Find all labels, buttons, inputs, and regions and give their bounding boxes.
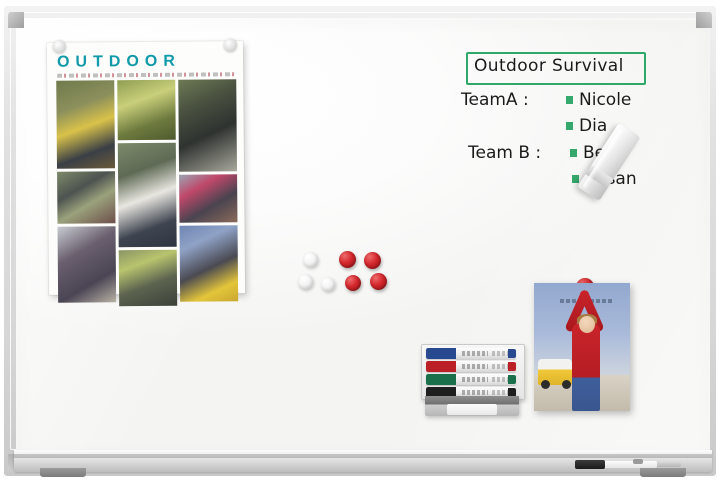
- bullet-square-icon: [566, 122, 573, 130]
- marker-label: [462, 390, 488, 395]
- tray-bracket-right: [640, 468, 686, 477]
- marker-tip: [508, 362, 516, 371]
- frame-corner-top-right: [696, 12, 712, 28]
- marker-tip: [508, 375, 516, 384]
- marker-clip: [633, 459, 643, 464]
- member-name: Dia: [579, 116, 607, 136]
- outdoor-poster[interactable]: OUTDOOR: [47, 41, 245, 295]
- poster-photo-6: [178, 79, 237, 172]
- magnet-red-2[interactable]: [364, 252, 381, 269]
- team-a-member-0: Nicole: [566, 90, 631, 110]
- poster-magnet-top-right[interactable]: [224, 38, 237, 51]
- handwritten-notes[interactable]: Outdoor Survival TeamA : Nicole Dia Team…: [460, 48, 660, 198]
- poster-photo-0: [56, 80, 115, 169]
- team-b-label: Team B :: [468, 143, 541, 163]
- poster-photo-1: [57, 171, 115, 224]
- poster-photo-grid: [56, 79, 238, 283]
- marker-label: [462, 351, 488, 356]
- magnet-white-2[interactable]: [298, 274, 313, 289]
- poster-column-right: [178, 79, 238, 305]
- marker-blue[interactable]: [426, 348, 516, 359]
- poster-photo-5: [119, 250, 177, 307]
- member-name: Nicole: [579, 90, 631, 110]
- poster-column-left: [56, 80, 116, 306]
- poster-photo-7: [179, 174, 237, 223]
- magnet-white-3[interactable]: [321, 277, 335, 291]
- eraser-band: [586, 165, 614, 188]
- person-head: [579, 316, 595, 333]
- marker-holder-base: [425, 396, 519, 416]
- poster-subtitle-text: [57, 72, 235, 78]
- bullet-square-icon: [572, 175, 579, 183]
- person-body: [572, 323, 600, 411]
- tray-bracket-left: [40, 468, 86, 477]
- van-wheel-left: [541, 380, 550, 389]
- team-a-label: TeamA :: [461, 90, 529, 110]
- team-a-member-1: Dia: [566, 116, 607, 136]
- marker-label: [462, 364, 488, 369]
- whiteboard-marker-in-tray[interactable]: [575, 460, 683, 469]
- marker-cap: [426, 361, 456, 372]
- magnet-red-4[interactable]: [370, 273, 387, 290]
- magnet-red-1[interactable]: [339, 251, 356, 268]
- bullet-square-icon: [570, 149, 577, 157]
- note-title: Outdoor Survival: [474, 56, 624, 76]
- frame-corner-top-left: [8, 12, 24, 28]
- marker-grip: [575, 460, 605, 469]
- magnet-white-1[interactable]: [303, 252, 318, 267]
- marker-label: [462, 377, 488, 382]
- poster-magnet-top-left[interactable]: [53, 40, 66, 53]
- bullet-square-icon: [566, 96, 573, 104]
- poster-photo-4: [118, 143, 177, 248]
- van-wheel-right: [562, 380, 571, 389]
- marker-nib: [657, 462, 681, 467]
- marker-tip: [508, 349, 516, 358]
- marker-holder[interactable]: [421, 344, 523, 418]
- poster-photo-2: [58, 226, 117, 303]
- poster-photo-3: [117, 80, 176, 141]
- pen-tray-lip: [14, 454, 712, 458]
- marker-red[interactable]: [426, 361, 516, 372]
- magnet-red-3[interactable]: [345, 275, 361, 291]
- marker-green[interactable]: [426, 374, 516, 385]
- marker-cap: [426, 374, 456, 385]
- whiteboard-scene: OUTDOOR Outdoor Survival TeamA :: [0, 0, 720, 482]
- poster-photo-8: [180, 225, 239, 302]
- pinned-photo-card[interactable]: [534, 283, 630, 411]
- poster-column-center: [117, 80, 177, 306]
- marker-cap: [426, 348, 456, 359]
- poster-title: OUTDOOR: [57, 51, 235, 73]
